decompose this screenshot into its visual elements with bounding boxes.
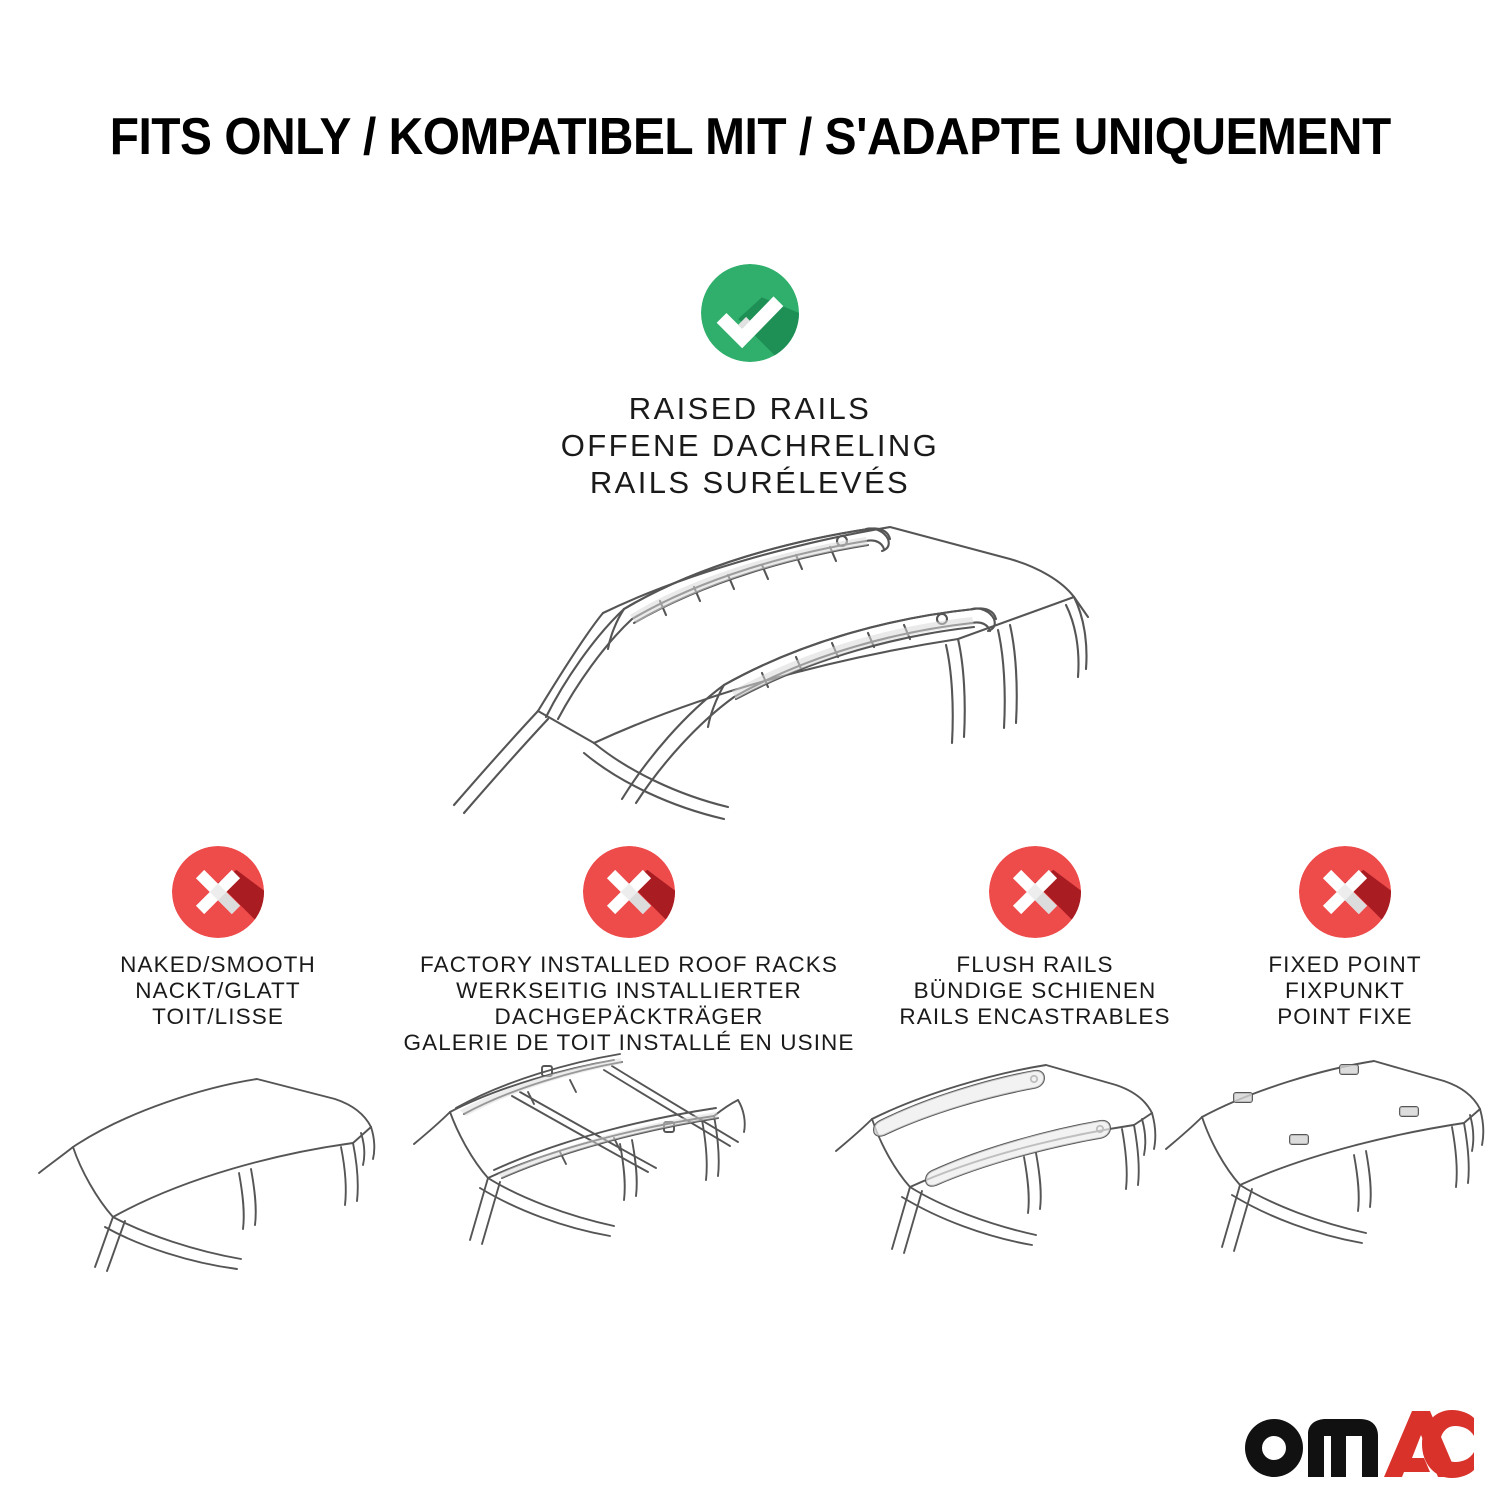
car-roof-naked-smooth-illustration [35, 1055, 405, 1285]
approved-labels: RAISED RAILS OFFENE DACHRELING RAILS SUR… [0, 390, 1500, 501]
rejected-label-de-1: WERKSEITIG INSTALLIERTER [390, 978, 868, 1004]
rejected-labels: FACTORY INSTALLED ROOF RACKS WERKSEITIG … [390, 952, 868, 1056]
rejected-labels: FIXED POINT FIXPUNKT POINT FIXE [1185, 952, 1500, 1030]
rejected-column-naked-smooth: NAKED/SMOOTH NACKT/GLATT TOIT/LISSE [38, 846, 398, 1030]
rejected-labels: FLUSH RAILS BÜNDIGE SCHIENEN RAILS ENCAS… [852, 952, 1218, 1030]
logo-letter-m [1308, 1419, 1378, 1477]
rejected-column-factory-roof-racks: FACTORY INSTALLED ROOF RACKS WERKSEITIG … [390, 846, 868, 1056]
page-title-text: FITS ONLY / KOMPATIBEL MIT / S'ADAPTE UN… [109, 108, 1390, 166]
approved-label-en: RAISED RAILS [0, 390, 1500, 427]
page-title: FITS ONLY / KOMPATIBEL MIT / S'ADAPTE UN… [0, 108, 1500, 166]
rejected-label-de-2: DACHGEPÄCKTRÄGER [390, 1004, 868, 1030]
rejected-label-en: FLUSH RAILS [852, 952, 1218, 978]
check-circle-icon [701, 264, 799, 362]
rejected-label-fr: POINT FIXE [1185, 1004, 1500, 1030]
rejected-label-de: NACKT/GLATT [38, 978, 398, 1004]
rejected-label-fr: TOIT/LISSE [38, 1004, 398, 1030]
approved-section: RAISED RAILS OFFENE DACHRELING RAILS SUR… [0, 264, 1500, 501]
approved-label-fr: RAILS SURÉLEVÉS [0, 464, 1500, 501]
car-roof-with-raised-rails-illustration [398, 505, 1108, 835]
rejected-label-de: BÜNDIGE SCHIENEN [852, 978, 1218, 1004]
rejected-label-en: FACTORY INSTALLED ROOF RACKS [390, 952, 868, 978]
rejected-label-de: FIXPUNKT [1185, 978, 1500, 1004]
rejected-label-en: FIXED POINT [1185, 952, 1500, 978]
rejected-labels: NAKED/SMOOTH NACKT/GLATT TOIT/LISSE [38, 952, 398, 1030]
rejected-column-fixed-point: FIXED POINT FIXPUNKT POINT FIXE [1185, 846, 1500, 1030]
logo-letter-o [1245, 1419, 1303, 1477]
car-roof-factory-installed-roof-racks-illustration [408, 1052, 793, 1282]
cross-circle-icon [583, 846, 675, 938]
car-roof-fixed-point-illustration [1162, 1055, 1500, 1285]
rejected-column-flush-rails: FLUSH RAILS BÜNDIGE SCHIENEN RAILS ENCAS… [852, 846, 1218, 1030]
omac-logo [1238, 1408, 1474, 1480]
car-roof-flush-rails-illustration [828, 1055, 1210, 1285]
approved-label-de: OFFENE DACHRELING [0, 427, 1500, 464]
cross-circle-icon [1299, 846, 1391, 938]
cross-circle-icon [172, 846, 264, 938]
rejected-label-en: NAKED/SMOOTH [38, 952, 398, 978]
rejected-label-fr: RAILS ENCASTRABLES [852, 1004, 1218, 1030]
cross-circle-icon [989, 846, 1081, 938]
rejected-section: NAKED/SMOOTH NACKT/GLATT TOIT/LISSE FACT… [0, 846, 1500, 1076]
